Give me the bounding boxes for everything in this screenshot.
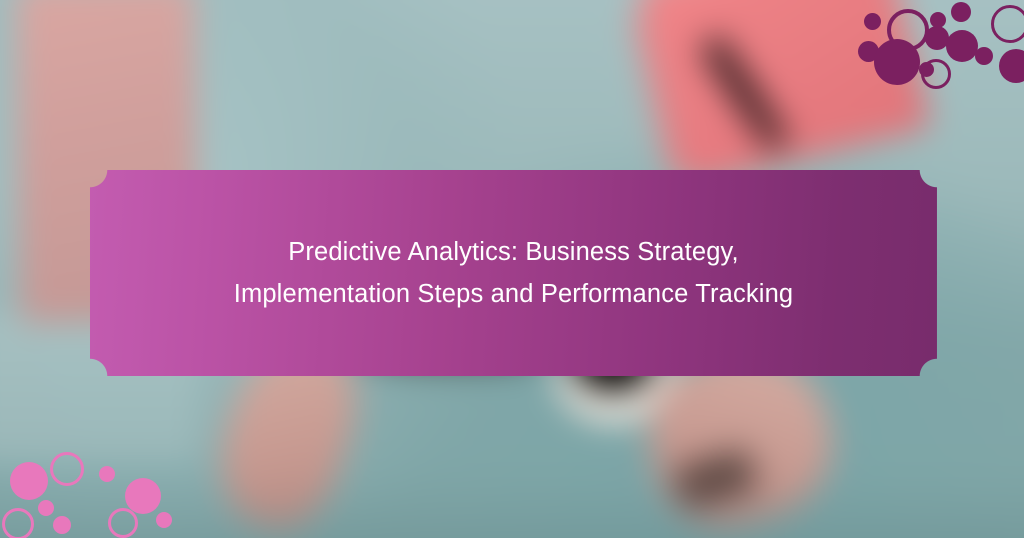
banner-canvas: Predictive Analytics: Business Strategy,…	[0, 0, 1024, 538]
title-banner: Predictive Analytics: Business Strategy,…	[90, 170, 937, 376]
banner-title-line-2: Implementation Steps and Performance Tra…	[234, 273, 794, 315]
bottom-vignette	[0, 478, 1024, 538]
banner-title-line-1: Predictive Analytics: Business Strategy,	[288, 231, 739, 273]
